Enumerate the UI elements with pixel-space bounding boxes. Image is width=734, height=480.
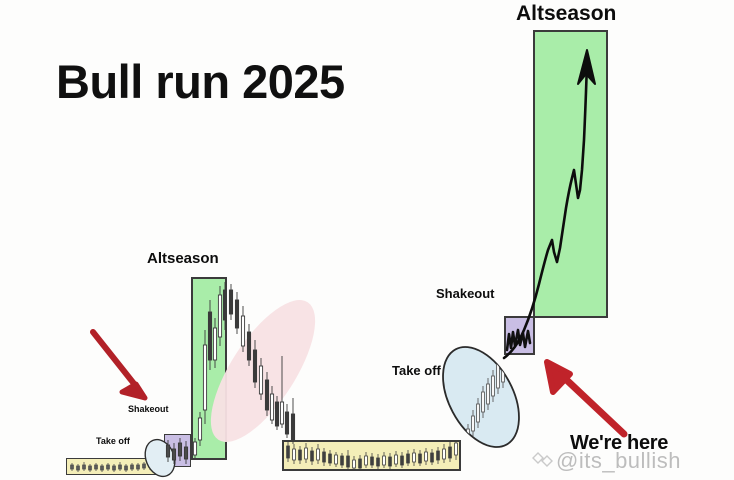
shakeout-zone-cycle1: [164, 434, 191, 467]
meme-canvas: Bull run 2025: [0, 0, 734, 480]
page-title: Bull run 2025: [56, 54, 345, 109]
accumulation-zone-cycle1: [66, 458, 164, 475]
altseason-label-cycle1: Altseason: [147, 250, 219, 267]
takeoff-label-cycle1: Take off: [96, 436, 130, 446]
altseason-zone-cycle2: [533, 30, 608, 318]
shakeout-zone-cycle2: [504, 316, 535, 355]
candles-distribution-cycle1: [229, 284, 294, 444]
accumulation-zone-cycle2: [282, 440, 461, 471]
shakeout-label-cycle2: Shakeout: [436, 286, 495, 301]
arrow-to-shakeout-cycle1: [93, 332, 145, 398]
candles-takeoff-cycle2: [462, 350, 505, 448]
takeoff-label-cycle2: Take off: [392, 363, 441, 378]
arrow-to-here-cycle2: [547, 362, 624, 434]
watermark-handle: @its_bullish: [556, 448, 681, 474]
shakeout-label-cycle1: Shakeout: [128, 404, 169, 414]
altseason-zone-cycle1: [191, 277, 227, 460]
altseason-label-cycle2: Altseason: [516, 2, 616, 26]
